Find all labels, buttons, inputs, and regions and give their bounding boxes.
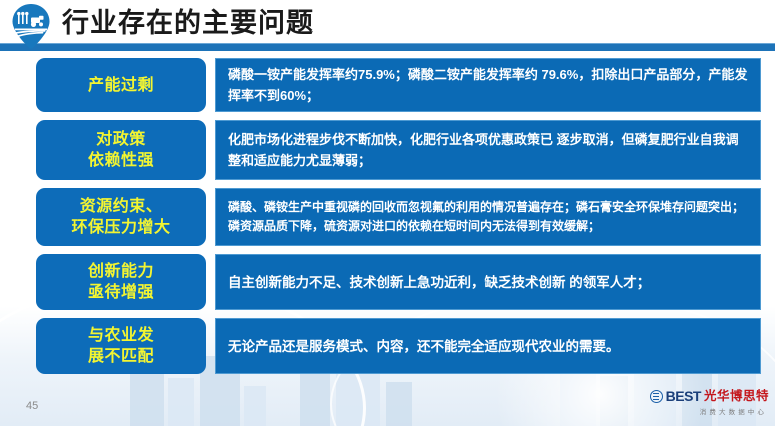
category-line-1: 与农业发 — [88, 325, 154, 346]
brand-name: 光华博思特 — [704, 389, 769, 403]
issue-description: 自主创新能力不足、技术创新上急功近利，缺乏技术创新 的领军人才； — [215, 254, 761, 310]
category-line-1: 创新能力 — [88, 261, 154, 282]
category-line-2: 亟待增强 — [88, 282, 154, 303]
category-text: 资源约束、 环保压力增大 — [71, 196, 170, 238]
category-line-1: 产能过剩 — [88, 75, 154, 96]
category-line-1: 资源约束、 — [71, 196, 170, 217]
issue-category-label: 与农业发 展不匹配 — [36, 318, 206, 374]
brand-mark: BEST — [666, 389, 701, 403]
category-line-1: 对政策 — [88, 129, 154, 150]
issue-category-label: 资源约束、 环保压力增大 — [36, 188, 206, 246]
issue-description: 化肥市场化进程步伐不断加快，化肥行业各项优惠政策已 逐步取消，但磷复肥行业自我调… — [215, 120, 761, 180]
category-text: 与农业发 展不匹配 — [88, 325, 154, 367]
issue-description: 无论产品还是服务模式、内容，还不能完全适应现代农业的需要。 — [215, 318, 761, 374]
category-line-2: 环保压力增大 — [71, 217, 170, 238]
category-line-2: 展不匹配 — [88, 346, 154, 367]
issue-row: 与农业发 展不匹配 无论产品还是服务模式、内容，还不能完全适应现代农业的需要。 — [0, 318, 775, 374]
best-circle-logo-icon — [650, 390, 663, 403]
issue-row: 创新能力 亟待增强 自主创新能力不足、技术创新上急功近利，缺乏技术创新 的领军人… — [0, 254, 775, 310]
issue-description: 磷酸一铵产能发挥率约75.9%；磷酸二铵产能发挥率约 79.6%，扣除出口产品部… — [215, 58, 761, 112]
slide-canvas: 行业存在的主要问题 产能过剩 磷酸一铵产能发挥率约75.9%；磷酸二铵产能发挥率… — [0, 0, 775, 426]
issues-list: 产能过剩 磷酸一铵产能发挥率约75.9%；磷酸二铵产能发挥率约 79.6%，扣除… — [0, 58, 775, 382]
issue-row: 资源约束、 环保压力增大 磷酸、磷铵生产中重视磷的回收而忽视氟的利用的情况普遍存… — [0, 188, 775, 246]
category-text: 对政策 依赖性强 — [88, 129, 154, 171]
issue-description: 磷酸、磷铵生产中重视磷的回收而忽视氟的利用的情况普遍存在；磷石膏安全环保堆存问题… — [215, 188, 761, 246]
brand-logo-top: BEST 光华博思特 — [650, 389, 769, 403]
issue-row: 对政策 依赖性强 化肥市场化进程步伐不断加快，化肥行业各项优惠政策已 逐步取消，… — [0, 120, 775, 180]
category-line-2: 依赖性强 — [88, 150, 154, 171]
slide-header: 行业存在的主要问题 — [0, 0, 775, 52]
issue-row: 产能过剩 磷酸一铵产能发挥率约75.9%；磷酸二铵产能发挥率约 79.6%，扣除… — [0, 58, 775, 112]
map-pin-farm-icon — [9, 3, 53, 49]
issue-category-label: 对政策 依赖性强 — [36, 120, 206, 180]
page-number: 45 — [26, 400, 38, 412]
issue-category-label: 创新能力 亟待增强 — [36, 254, 206, 310]
category-text: 创新能力 亟待增强 — [88, 261, 154, 303]
issue-category-label: 产能过剩 — [36, 58, 206, 112]
brand-logo: BEST 光华博思特 消费大数据中心 — [650, 389, 769, 416]
page-title: 行业存在的主要问题 — [62, 6, 314, 40]
brand-subtitle: 消费大数据中心 — [700, 406, 767, 416]
